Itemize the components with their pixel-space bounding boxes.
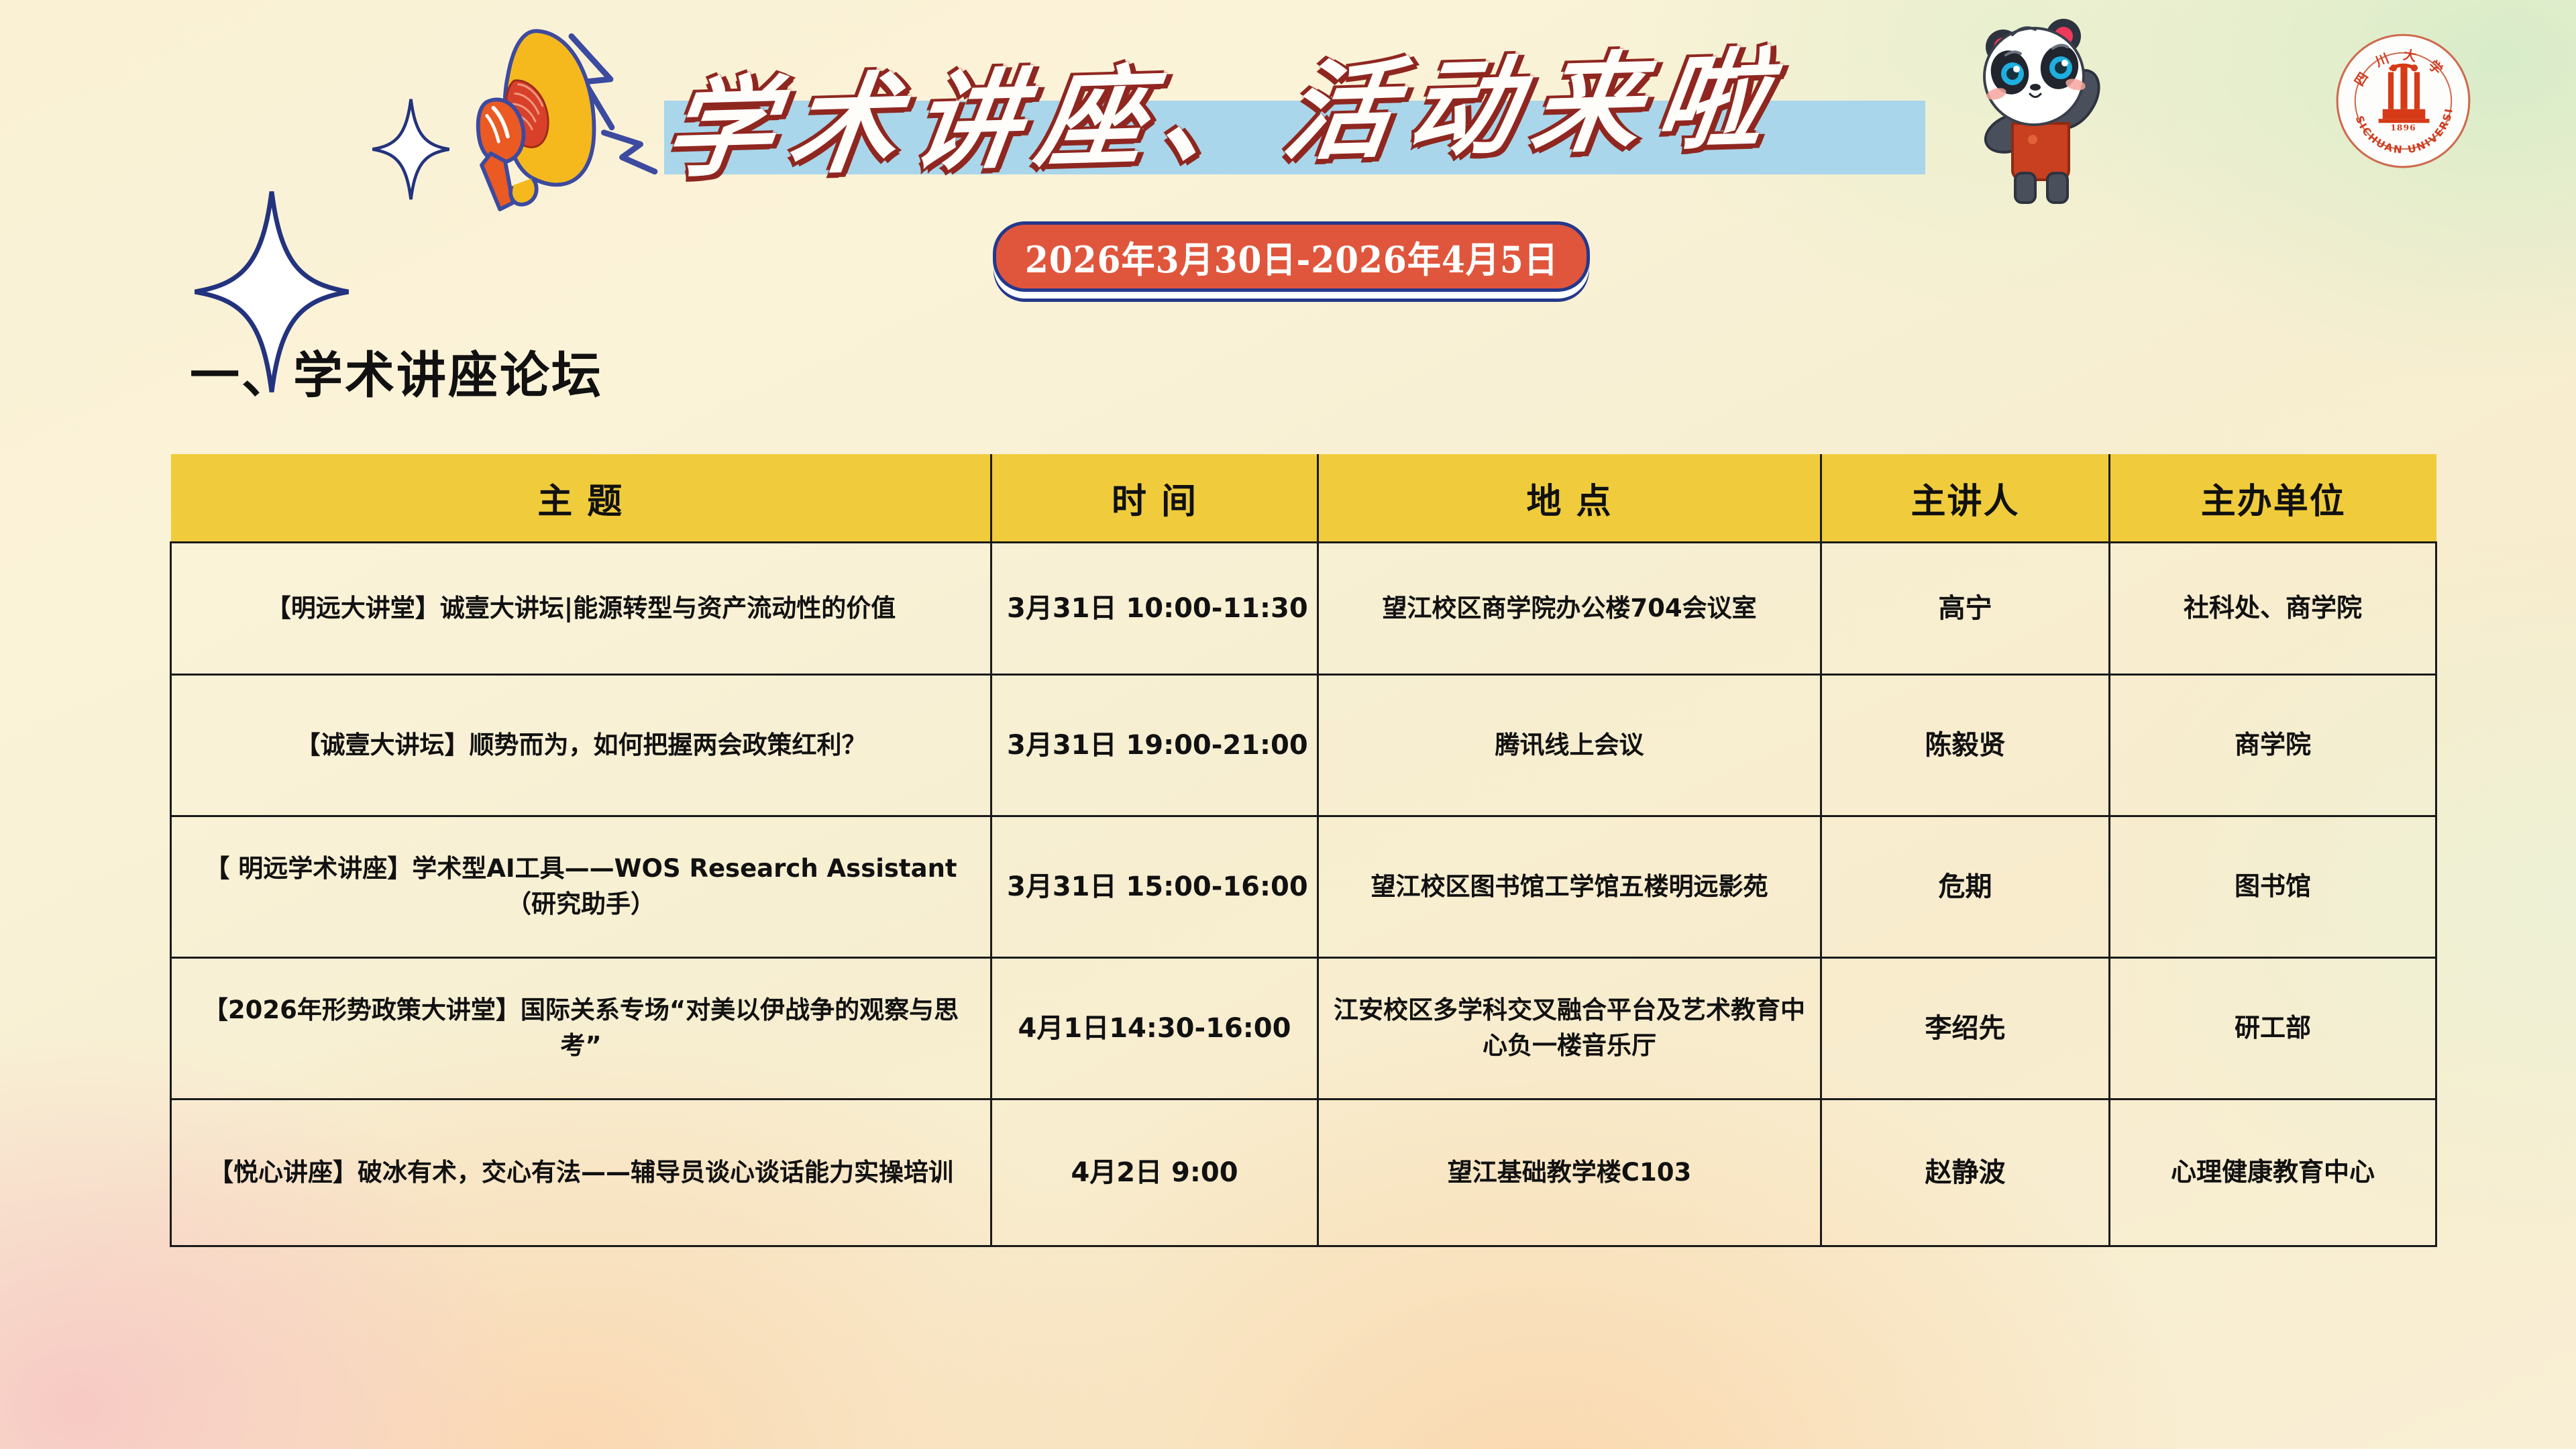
cell-time: 3月31日 10:00-11:30 bbox=[991, 543, 1318, 675]
table-row: 【 明远学术讲座】学术型AI工具——WOS Research Assistant… bbox=[171, 816, 2436, 958]
table-row: 【悦心讲座】破冰有术，交心有法——辅导员谈心谈话能力实操培训 4月2日 9:00… bbox=[171, 1099, 2436, 1246]
column-header-place: 地 点 bbox=[1318, 454, 1821, 543]
cell-place: 腾讯线上会议 bbox=[1318, 675, 1821, 816]
cell-place: 江安校区多学科交叉融合平台及艺术教育中心负一楼音乐厅 bbox=[1318, 958, 1821, 1099]
cell-topic: 【 明远学术讲座】学术型AI工具——WOS Research Assistant… bbox=[171, 816, 991, 958]
cell-time: 3月31日 15:00-16:00 bbox=[991, 816, 1318, 958]
cell-speaker: 李绍先 bbox=[1821, 958, 2110, 1099]
cell-speaker: 高宁 bbox=[1821, 543, 2110, 675]
column-header-time: 时 间 bbox=[991, 454, 1318, 543]
column-header-topic: 主 题 bbox=[171, 454, 991, 543]
cell-org: 商学院 bbox=[2110, 675, 2436, 816]
sichuan-university-logo: 四 川 大 学 SICHUAN UNIVERSITY 1896 bbox=[2334, 32, 2472, 170]
cell-place: 望江基础教学楼C103 bbox=[1318, 1099, 1821, 1246]
table-row: 【2026年形势政策大讲堂】国际关系专场“对美以伊战争的观察与思考” 4月1日1… bbox=[171, 958, 2436, 1099]
cell-time: 4月2日 9:00 bbox=[991, 1099, 1318, 1246]
cell-org: 社科处、商学院 bbox=[2110, 543, 2436, 675]
cell-place: 望江校区商学院办公楼704会议室 bbox=[1318, 543, 1821, 675]
cell-topic: 【2026年形势政策大讲堂】国际关系专场“对美以伊战争的观察与思考” bbox=[171, 958, 991, 1099]
cell-topic: 【悦心讲座】破冰有术，交心有法——辅导员谈心谈话能力实操培训 bbox=[171, 1099, 991, 1246]
cell-place: 望江校区图书馆工学馆五楼明远影苑 bbox=[1318, 816, 1821, 958]
cell-org: 图书馆 bbox=[2110, 816, 2436, 958]
cell-org: 研工部 bbox=[2110, 958, 2436, 1099]
schedule-table: 主 题 时 间 地 点 主讲人 主办单位 【明远大讲堂】诚壹大讲坛|能源转型与资… bbox=[170, 454, 2437, 1247]
date-range-text: 2026年3月30日-2026年4月5日 bbox=[1024, 230, 1558, 283]
svg-text:1896: 1896 bbox=[2390, 123, 2416, 133]
section-heading: 一、学术讲座论坛 bbox=[190, 335, 603, 407]
cell-speaker: 陈毅贤 bbox=[1821, 675, 2110, 816]
schedule-table-wrapper: 主 题 时 间 地 点 主讲人 主办单位 【明远大讲堂】诚壹大讲坛|能源转型与资… bbox=[170, 454, 2435, 1247]
cell-speaker: 赵静波 bbox=[1821, 1099, 2110, 1246]
table-header-row: 主 题 时 间 地 点 主讲人 主办单位 bbox=[171, 454, 2436, 543]
date-range-banner: 2026年3月30日-2026年4月5日 bbox=[993, 221, 1590, 292]
cell-topic: 【诚壹大讲坛】顺势而为，如何把握两会政策红利？ bbox=[171, 675, 991, 816]
cell-speaker: 危期 bbox=[1821, 816, 2110, 958]
column-header-speaker: 主讲人 bbox=[1821, 454, 2110, 543]
poster-title-block: 学术讲座、活动来啦 bbox=[664, 12, 1979, 213]
table-row: 【诚壹大讲坛】顺势而为，如何把握两会政策红利？ 3月31日 19:00-21:0… bbox=[171, 675, 2436, 816]
cell-time: 3月31日 19:00-21:00 bbox=[991, 675, 1318, 816]
column-header-org: 主办单位 bbox=[2110, 454, 2436, 543]
cell-topic: 【明远大讲堂】诚壹大讲坛|能源转型与资产流动性的价值 bbox=[171, 543, 991, 675]
table-row: 【明远大讲堂】诚壹大讲坛|能源转型与资产流动性的价值 3月31日 10:00-1… bbox=[171, 543, 2436, 675]
cell-org: 心理健康教育中心 bbox=[2110, 1099, 2436, 1246]
cell-time: 4月1日14:30-16:00 bbox=[991, 958, 1318, 1099]
